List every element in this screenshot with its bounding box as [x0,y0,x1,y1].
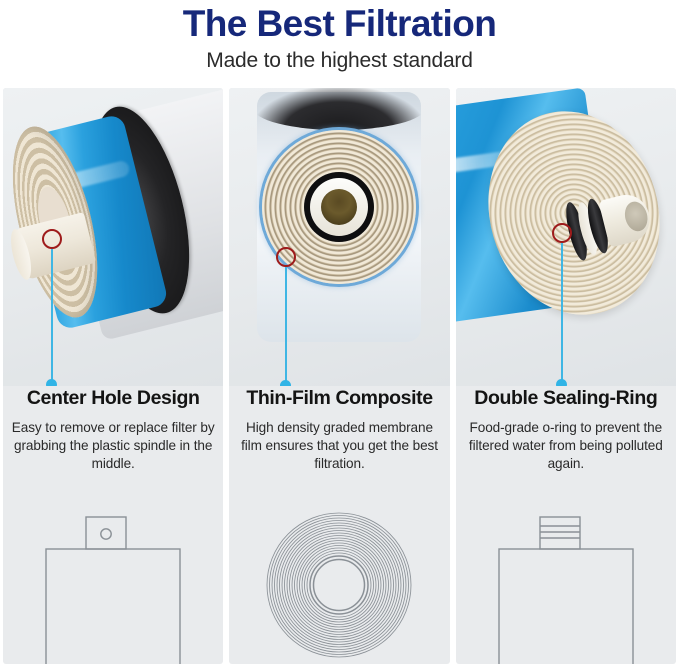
infographic-page: The Best Filtration Made to the highest … [0,0,679,664]
panel-heading: Double Sealing-Ring [464,386,668,410]
product-photo-sealing-ring [456,88,676,386]
page-subtitle: Made to the highest standard [0,47,679,75]
product-photo-thin-film [229,88,449,386]
panel-text-sealing-ring: Double Sealing-Ring Food-grade o-ring to… [456,386,676,473]
callout-dot-icon [46,379,57,386]
panel-text-center-hole: Center Hole Design Easy to remove or rep… [3,386,223,473]
page-title: The Best Filtration [0,2,679,46]
feature-panel-center-hole-design: Center Hole Design Easy to remove or rep… [3,88,223,664]
panel-heading: Thin-Film Composite [237,386,441,410]
panel-body-text: Food-grade o-ring to prevent the filtere… [464,419,668,473]
header: The Best Filtration Made to the highest … [0,0,679,75]
product-photo-center-hole [3,88,223,386]
line-diagram-thin-film [229,504,449,664]
panel-body-text: Easy to remove or replace filter by grab… [11,419,215,473]
red-circle-marker-icon [552,223,572,243]
callout-line [51,249,53,385]
callout-dot-icon [556,379,567,386]
callout-line [561,243,563,386]
callout-line [285,267,287,386]
red-circle-marker-icon [42,229,62,249]
line-diagram-sealing-ring [456,504,676,664]
panel-body-text: High density graded membrane film ensure… [237,419,441,473]
panel-heading: Center Hole Design [11,386,215,410]
feature-panel-double-sealing-ring: Double Sealing-Ring Food-grade o-ring to… [456,88,676,664]
feature-panel-thin-film-composite: Thin-Film Composite High density graded … [229,88,449,664]
panel-text-thin-film: Thin-Film Composite High density graded … [229,386,449,473]
feature-panels: Center Hole Design Easy to remove or rep… [0,88,679,664]
line-diagram-center-hole [3,504,223,664]
